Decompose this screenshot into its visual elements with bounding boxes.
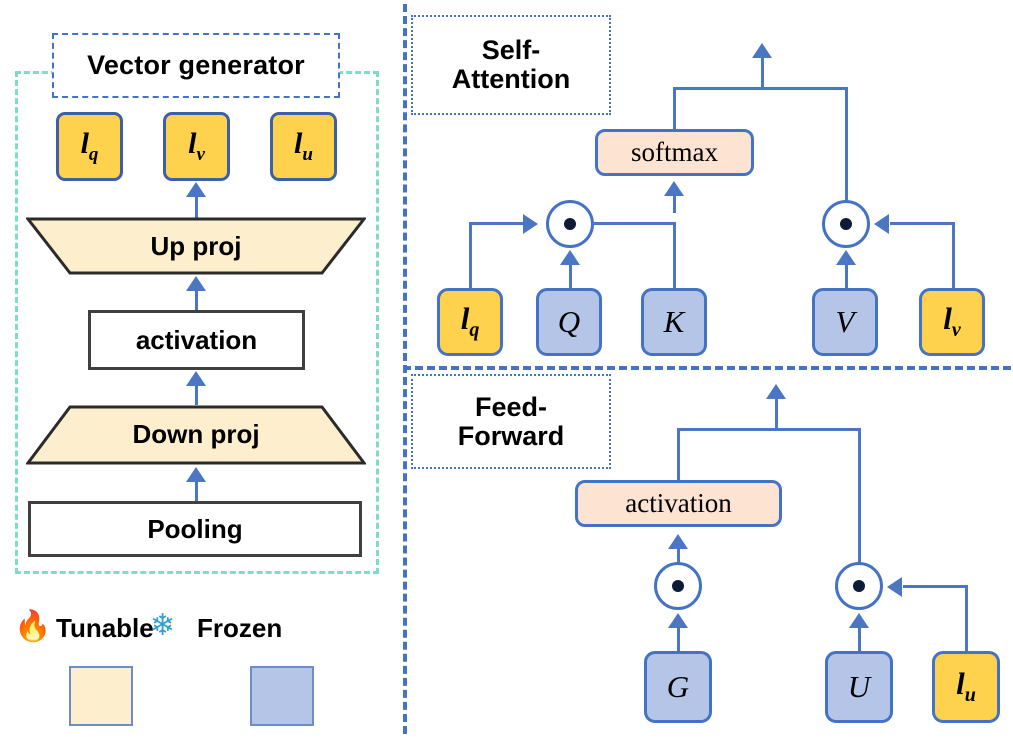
feed-forward-title-box: Feed- Forward [411, 374, 611, 469]
panel-divider-horizontal [403, 366, 1011, 370]
legend-swatch-tunable [69, 666, 133, 726]
vector-generator-title-box: Vector generator [52, 33, 340, 98]
wire-pooling-to-downproj [195, 481, 198, 501]
arrowhead-upproj-to-lv [186, 182, 206, 197]
arrowhead-pooling-to-downproj [186, 467, 206, 482]
arrowhead-lu-into-op [887, 577, 902, 597]
feed-forward-label-line1: Feed- [475, 393, 547, 422]
diagram-canvas: Vector generator lq lv lu Up proj activa… [0, 0, 1013, 738]
wire-k-vertical [673, 222, 676, 290]
snowflake-icon: ❄ [150, 611, 175, 641]
arrowhead-ffop1-to-activation [668, 534, 688, 549]
down-proj-block: Down proj [26, 405, 366, 465]
vector-box-lq-label: lq [81, 127, 99, 166]
node-lu: lu [932, 651, 1000, 723]
node-lq-label: lq [461, 301, 480, 342]
wire-u-up [858, 628, 861, 652]
wire-bus-to-right-op [845, 87, 848, 207]
vector-box-lq: lq [56, 112, 123, 181]
wire-v-up [845, 265, 848, 290]
vector-box-lu: lu [270, 112, 337, 181]
vector-generator-label: Vector generator [87, 50, 305, 81]
wire-lu-left [903, 585, 968, 588]
activation-block: activation [88, 310, 305, 370]
node-k-label: K [664, 304, 685, 340]
arrowhead-lv-into-op [874, 214, 889, 234]
vector-box-lv: lv [163, 112, 230, 181]
arrowhead-ff-output [766, 384, 786, 399]
node-u-label: U [848, 669, 870, 705]
op-dot [564, 218, 576, 230]
arrowhead-attention-output [752, 43, 772, 58]
elementwise-product-op-attention-right [822, 200, 870, 248]
pooling-label: Pooling [147, 514, 242, 545]
flame-icon: 🔥 [14, 612, 51, 642]
self-attention-label-line2: Attention [452, 65, 570, 94]
elementwise-product-op-attention-left [546, 200, 594, 248]
up-proj-label: Up proj [26, 231, 366, 262]
arrowhead-activation-to-upproj [186, 276, 206, 291]
pooling-block: Pooling [28, 501, 362, 557]
op-dot [840, 218, 852, 230]
node-g-label: G [667, 669, 689, 705]
elementwise-product-op-ff-left [654, 562, 702, 610]
ff-activation-label: activation [625, 488, 731, 519]
wire-lv-left [890, 222, 955, 225]
wire-bus-to-attention-out [761, 58, 764, 89]
arrowhead-g-into-op [668, 613, 688, 628]
wire-bus-to-ff-out [775, 399, 778, 430]
wire-op1-to-softmax [673, 195, 676, 213]
wire-lu-up [965, 585, 968, 653]
wire-activation-to-upproj [195, 290, 198, 310]
up-proj-block: Up proj [26, 217, 366, 275]
wire-ffactivation-to-bus [677, 428, 680, 480]
vector-box-lv-label: lv [188, 127, 205, 166]
node-lu-label: lu [956, 666, 976, 707]
softmax-block: softmax [595, 129, 754, 176]
ff-activation-block: activation [575, 480, 782, 527]
self-attention-title-box: Self- Attention [411, 15, 611, 115]
down-proj-label: Down proj [26, 419, 366, 450]
node-v-label: V [836, 304, 855, 340]
wire-lq-right [469, 222, 524, 225]
self-attention-label-line1: Self- [482, 36, 541, 65]
wire-q-up [569, 265, 572, 290]
arrowhead-v-into-op [836, 250, 856, 265]
arrowhead-lq-into-op [523, 214, 538, 234]
activation-label: activation [136, 325, 257, 356]
arrowhead-q-into-op [560, 250, 580, 265]
wire-op1-to-k-line [592, 222, 675, 225]
wire-lq-up [469, 222, 472, 290]
op-dot [672, 580, 684, 592]
arrowhead-downproj-to-activation [186, 371, 206, 386]
arrowhead-u-into-op [849, 613, 869, 628]
arrowhead-op1-to-softmax [664, 181, 684, 196]
wire-lv-up [952, 222, 955, 290]
node-k: K [641, 288, 707, 356]
node-u: U [825, 651, 893, 723]
feed-forward-label-line2: Forward [458, 422, 565, 451]
wire-upproj-to-lv [195, 196, 198, 218]
op-dot [853, 580, 865, 592]
wire-softmax-to-bus [673, 87, 676, 129]
legend-swatch-frozen [250, 666, 314, 726]
node-v: V [812, 288, 878, 356]
legend-tunable-label: Tunable [56, 613, 154, 644]
softmax-label: softmax [631, 137, 718, 168]
node-q-label: Q [558, 304, 580, 340]
legend-frozen-label: Frozen [197, 613, 282, 644]
wire-ffbus-to-right-op [858, 428, 861, 569]
node-q: Q [536, 288, 602, 356]
wire-downproj-to-activation [195, 385, 198, 405]
node-lq: lq [437, 288, 503, 356]
wire-ff-output-bus [677, 428, 861, 431]
elementwise-product-op-ff-right [835, 562, 883, 610]
node-lv-label: lv [943, 301, 961, 342]
node-g: G [644, 651, 712, 723]
wire-g-up [677, 628, 680, 652]
node-lv: lv [919, 288, 985, 356]
vector-box-lu-label: lu [294, 127, 313, 166]
